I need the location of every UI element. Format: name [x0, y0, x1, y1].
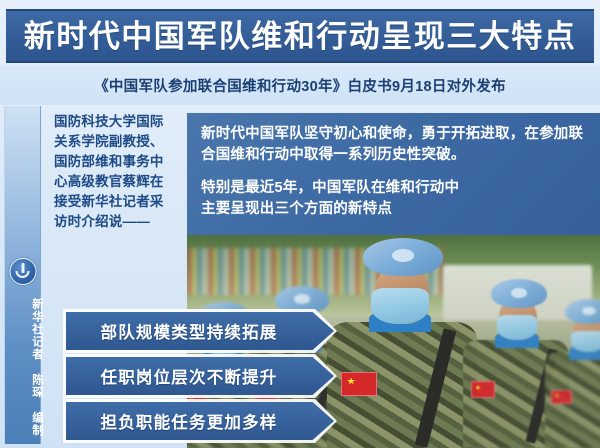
- feature-bar-2[interactable]: 任职岗位层次不断提升: [66, 357, 334, 395]
- feature-bar-label: 担负职能任务更加多样: [101, 409, 278, 433]
- header-band: 新时代中国军队维和行动呈现三大特点: [6, 9, 594, 63]
- feature-bar-label: 部队规模类型持续拓展: [101, 319, 278, 343]
- feature-bar-body: 任职岗位层次不断提升: [66, 357, 334, 395]
- feature-bar-list: 部队规模类型持续拓展 任职岗位层次不断提升 担负职能任务更加多样: [66, 312, 334, 447]
- feature-bar-body: 担负职能任务更加多样: [66, 402, 334, 440]
- feature-bar-3[interactable]: 担负职能任务更加多样: [66, 402, 334, 440]
- intro-paragraph: 国防科技大学国际关系学院副教授、国防部维和事务中心高级教官蔡辉在接受新华社记者采…: [54, 112, 176, 232]
- quote-paragraph-2-line-2: 主要呈现出三个方面的新特点: [201, 201, 392, 217]
- feature-bar-body: 部队规模类型持续拓展: [66, 312, 334, 350]
- quote-paragraph-1: 新时代中国军队坚守初心和使命，勇于开拓进取，在参加联合国维和行动中取得一系列历史…: [201, 124, 586, 166]
- quote-paragraph-2: 特别是最近5年，中国军队在维和行动中 主要呈现出三个方面的新特点: [201, 178, 586, 220]
- quote-paragraph-2-line-1: 特别是最近5年，中国军队在维和行动中: [201, 180, 459, 196]
- credit-text: 新华社记者 陈琛 编制: [5, 292, 42, 442]
- subtitle-text: 《中国军队参加联合国维和行动30年》白皮书9月18日对外发布: [94, 75, 506, 96]
- soldier-figure: [545, 290, 600, 448]
- quote-panel: 新时代中国军队坚守初心和使命，勇于开拓进取，在参加联合国维和行动中取得一系列历史…: [187, 113, 600, 237]
- infographic-poster: 新时代中国军队维和行动呈现三大特点 《中国军队参加联合国维和行动30年》白皮书9…: [0, 0, 600, 448]
- page-title: 新时代中国军队维和行动呈现三大特点: [24, 21, 577, 52]
- feature-bar-1[interactable]: 部队规模类型持续拓展: [66, 312, 334, 350]
- credit-rail: 新华社记者 陈琛 编制: [4, 106, 41, 444]
- xinhua-emblem-icon: [9, 258, 36, 285]
- soldier-figure-foreground: [327, 236, 477, 448]
- subtitle-band: 《中国军队参加联合国维和行动30年》白皮书9月18日对外发布: [0, 65, 600, 105]
- feature-bar-label: 任职岗位层次不断提升: [101, 364, 278, 388]
